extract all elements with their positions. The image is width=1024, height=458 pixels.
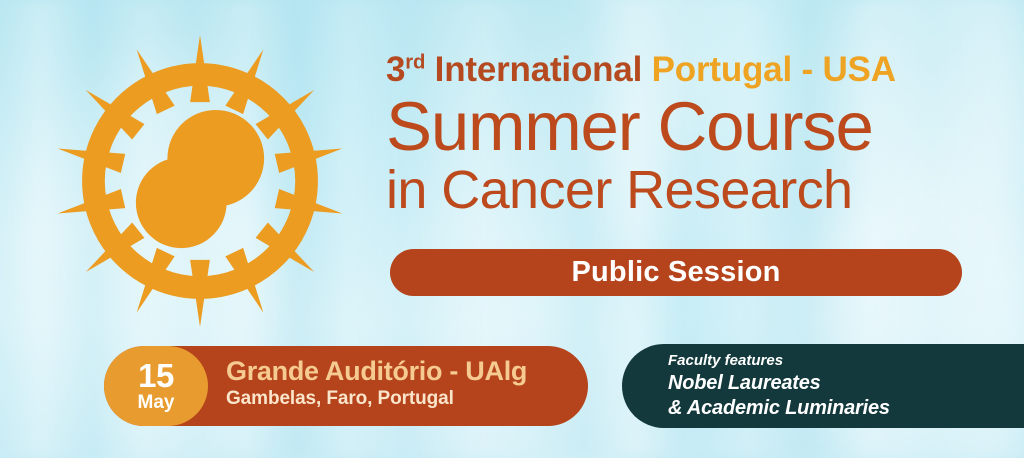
venue-location: Gambelas, Faro, Portugal [226, 388, 527, 411]
date-badge: 15 May [104, 346, 208, 426]
countries-label: Portugal - USA [652, 50, 896, 89]
international-label: International [425, 50, 651, 89]
status-badge: Public Session [390, 249, 962, 296]
session-badge-label: Public Session [571, 256, 780, 289]
date-day: 15 [138, 359, 174, 392]
headline-block: 3rd International Portugal - USA Summer … [386, 52, 972, 217]
venue-text-block: Grande Auditório - UAlg Gambelas, Faro, … [226, 356, 527, 411]
faculty-line-1: Nobel Laureates [668, 371, 890, 397]
ordinal-suffix: rd [405, 51, 425, 73]
ordinal-number: 3 [386, 50, 405, 89]
headline-line-ordinal: 3rd International Portugal - USA [386, 52, 972, 87]
event-banner: 3rd International Portugal - USA Summer … [0, 0, 1024, 458]
sun-cell-logo-icon [52, 33, 348, 329]
page-subtitle: in Cancer Research [386, 163, 972, 217]
page-title: Summer Course [386, 93, 972, 161]
venue-name: Grande Auditório - UAlg [226, 356, 527, 386]
faculty-text-block: Faculty features Nobel Laureates & Acade… [668, 352, 890, 422]
faculty-lead-label: Faculty features [668, 352, 890, 371]
faculty-line-2: & Academic Luminaries [668, 396, 890, 422]
date-month: May [138, 393, 175, 414]
